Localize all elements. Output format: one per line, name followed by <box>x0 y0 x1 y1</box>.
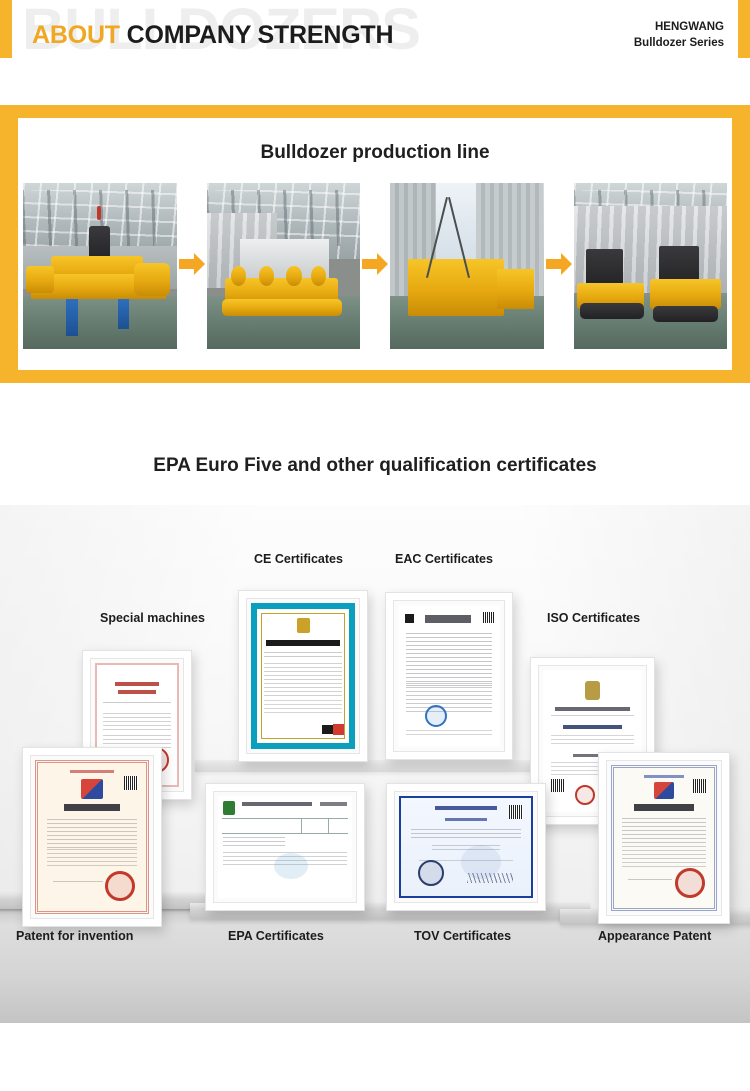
red-seal-icon <box>105 871 135 901</box>
production-image-2[interactable] <box>207 183 361 349</box>
certificate-frame-appearance-patent[interactable] <box>598 752 730 924</box>
certificate-frame-patent-invention[interactable] <box>22 747 162 927</box>
caption-epa: EPA Certificates <box>228 929 324 943</box>
certificate-paper-epa <box>218 796 352 898</box>
brand-block: HENGWANG Bulldozer Series <box>634 20 724 51</box>
page-title-rest: COMPANY STRENGTH <box>127 21 394 49</box>
brand-name: HENGWANG <box>634 20 724 36</box>
factory-scene-4 <box>574 183 728 349</box>
factory-scene-1 <box>23 183 177 349</box>
certificate-paper-ce <box>251 603 355 749</box>
certificates-section-title: EPA Euro Five and other qualification ce… <box>0 455 750 477</box>
certificate-frame-epa[interactable] <box>205 783 365 911</box>
certificate-frame-eac[interactable] <box>385 592 513 760</box>
certificate-paper-appearance-patent <box>611 765 717 911</box>
caption-tov: TOV Certificates <box>414 929 511 943</box>
certificates-display-stage: Special machines CE Certificates EAC Cer… <box>0 505 750 1023</box>
certificate-paper-tov <box>399 796 533 898</box>
about-company-strength-page: BULLDOZERS ABOUT COMPANY STRENGTH HENGWA… <box>0 0 750 1091</box>
certificate-frame-tov[interactable] <box>386 783 546 911</box>
header-accent-bar-right <box>738 0 750 58</box>
certificate-paper-patent-invention <box>35 760 149 914</box>
caption-appearance-patent: Appearance Patent <box>598 929 711 943</box>
blue-seal-icon <box>425 705 447 727</box>
production-image-3[interactable] <box>390 183 544 349</box>
caption-iso: ISO Certificates <box>547 611 640 625</box>
tuv-emblem-icon <box>418 860 444 886</box>
production-line-panel: Bulldozer production line <box>18 118 732 370</box>
production-arrow-2 <box>360 183 390 349</box>
page-title-accent: ABOUT <box>32 21 120 49</box>
production-line-title: Bulldozer production line <box>18 142 732 164</box>
page-header: BULLDOZERS ABOUT COMPANY STRENGTH HENGWA… <box>0 0 750 97</box>
page-title: ABOUT COMPANY STRENGTH <box>32 21 393 50</box>
production-line-steps <box>23 183 727 349</box>
arrow-right-icon <box>546 253 572 275</box>
production-image-4[interactable] <box>574 183 728 349</box>
red-seal-icon <box>575 785 595 805</box>
production-arrow-3 <box>544 183 574 349</box>
caption-special-machines: Special machines <box>100 611 205 625</box>
caption-eac: EAC Certificates <box>395 552 493 566</box>
red-seal-icon <box>675 868 705 898</box>
header-accent-bar-left <box>0 0 12 58</box>
caption-patent-for-invention: Patent for invention <box>16 929 133 943</box>
factory-scene-3 <box>390 183 544 349</box>
certificate-paper-eac <box>398 605 500 747</box>
arrow-right-icon <box>362 253 388 275</box>
production-line-section: Bulldozer production line <box>0 105 750 383</box>
epa-watermark-icon <box>274 853 308 879</box>
brand-series: Bulldozer Series <box>634 36 724 52</box>
production-image-1[interactable] <box>23 183 177 349</box>
tov-watermark-icon <box>461 845 501 879</box>
production-arrow-1 <box>177 183 207 349</box>
factory-scene-2 <box>207 183 361 349</box>
arrow-right-icon <box>179 253 205 275</box>
certificate-frame-ce[interactable] <box>238 590 368 762</box>
caption-ce: CE Certificates <box>254 552 343 566</box>
